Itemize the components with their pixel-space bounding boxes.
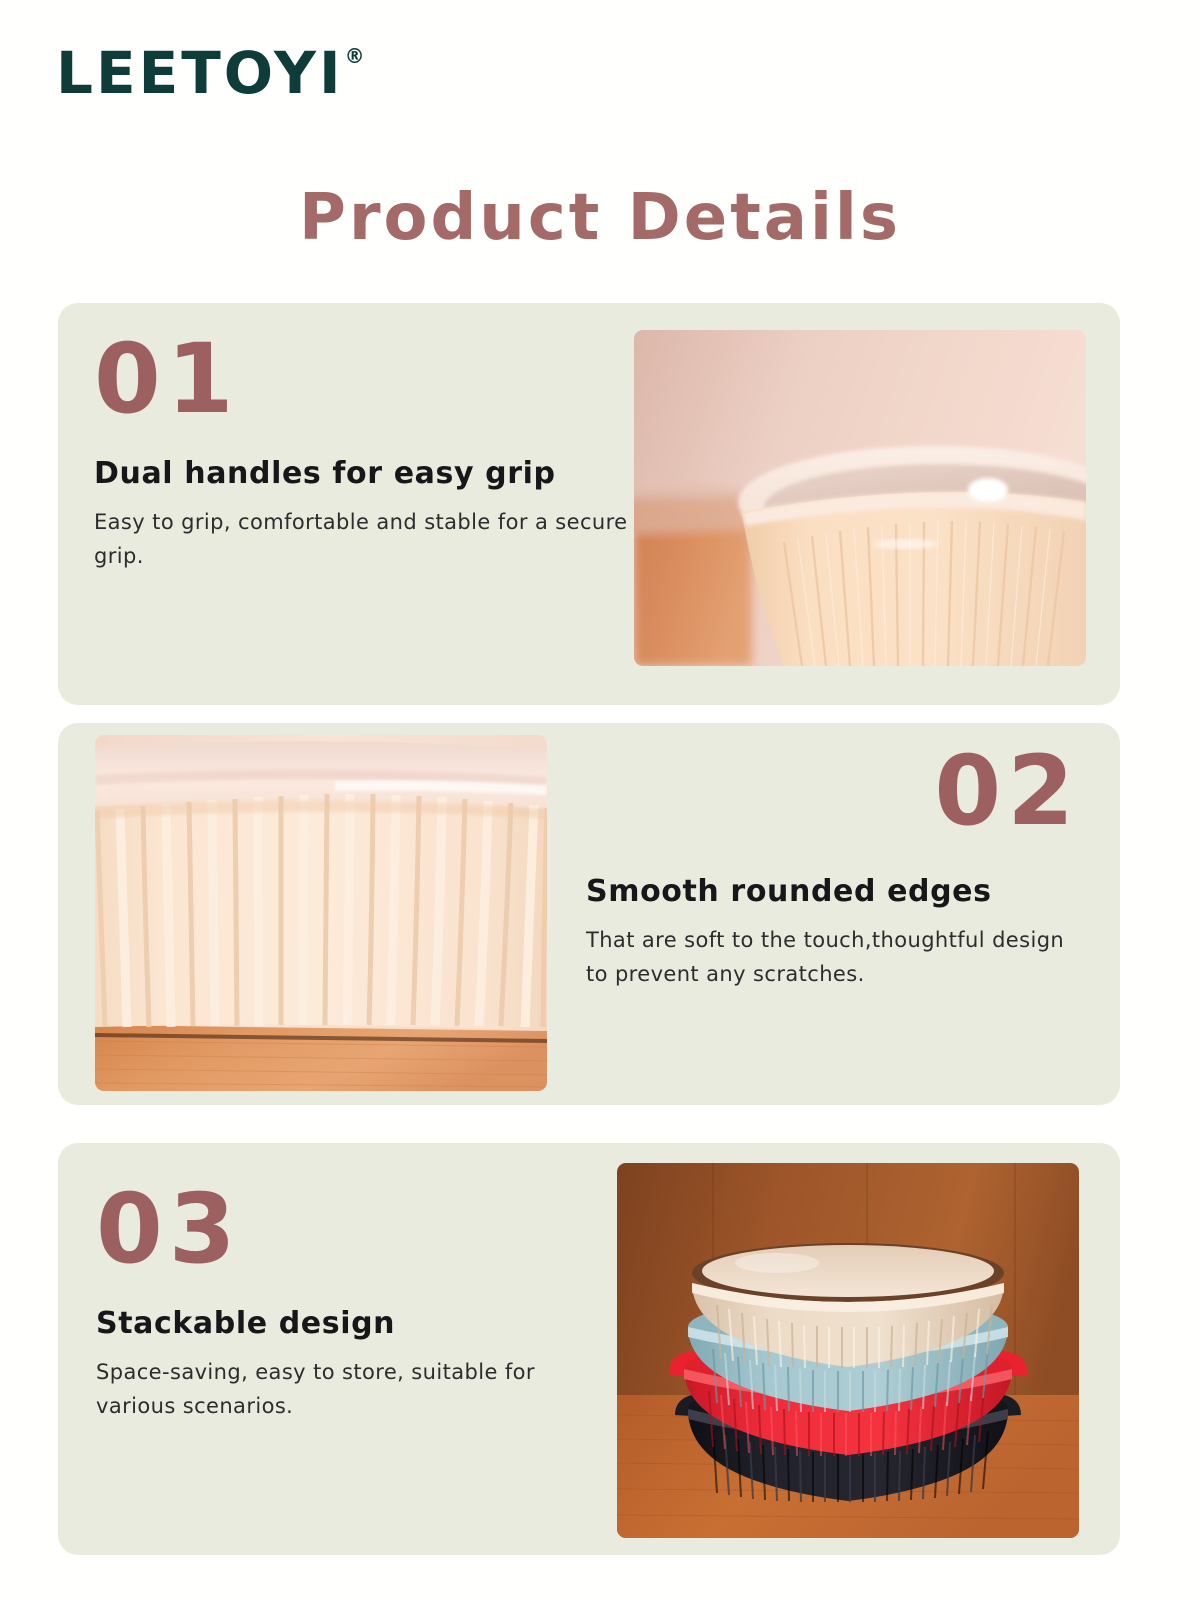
feature-text-block-03: 03 Stackable design Space-saving, easy t… [96,1181,616,1423]
feature-description-03: Space-saving, easy to store, suitable fo… [96,1355,616,1423]
step-number-03: 03 [96,1181,616,1277]
product-photo-01-graphic [634,330,1086,666]
product-photo-03 [617,1163,1079,1538]
product-photo-03-graphic [617,1163,1079,1538]
feature-text-block-01: 01 Dual handles for easy grip Easy to gr… [94,331,634,573]
page-title: Product Details [0,183,1200,253]
feature-card-01: 01 Dual handles for easy grip Easy to gr… [58,303,1120,705]
feature-card-03: 03 Stackable design Space-saving, easy t… [58,1143,1120,1555]
registered-trademark-icon: ® [345,46,365,66]
feature-title-02: Smooth rounded edges [586,873,1086,911]
feature-title-01: Dual handles for easy grip [94,455,634,493]
feature-description-01: Easy to grip, comfortable and stable for… [94,505,634,573]
product-photo-01 [634,330,1086,666]
product-photo-02 [95,735,547,1091]
brand-logo: LEETOYI ® [56,44,365,102]
product-photo-02-graphic [95,735,547,1091]
feature-text-block-02: 02 Smooth rounded edges That are soft to… [586,743,1086,991]
brand-name: LEETOYI [56,44,344,102]
feature-description-02: That are soft to the touch,thoughtful de… [586,923,1086,991]
step-number-02: 02 [586,743,1086,839]
step-number-01: 01 [94,331,634,427]
feature-card-02: 02 Smooth rounded edges That are soft to… [58,723,1120,1105]
feature-title-03: Stackable design [96,1305,616,1343]
